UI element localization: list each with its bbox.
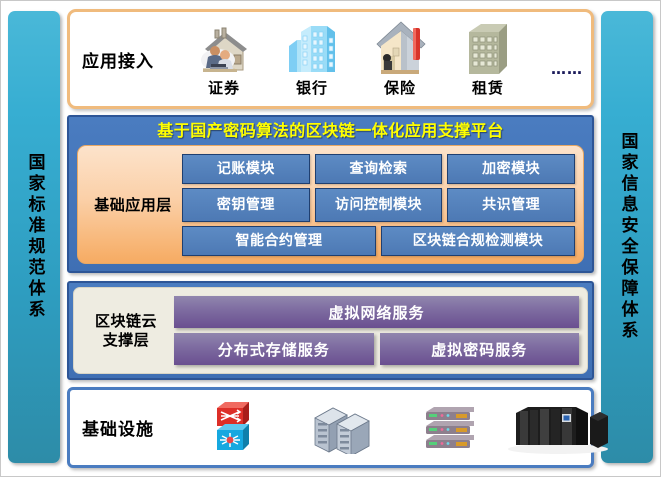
leasing-building-icon (461, 20, 515, 76)
sidebar-left-label: 国家标准规范体系 (26, 153, 43, 321)
sidebar-right-label: 国家信息安全保障体系 (619, 132, 636, 342)
module-blockchain-compliance-detection[interactable]: 区块链合规检测模块 (381, 226, 575, 256)
module-row: 记账模块 查询检索 加密模块 (182, 154, 575, 184)
sidebar-national-standards: 国家标准规范体系 (8, 11, 60, 463)
module-encryption[interactable]: 加密模块 (447, 154, 575, 184)
infrastructure-label: 基础设施 (82, 415, 180, 440)
application-access-items: 证券 (180, 20, 610, 98)
infra-item-rack-servers (396, 402, 504, 454)
app-item-insurance: 保险 (356, 20, 444, 98)
architecture-diagram: 国家标准规范体系 国家信息安全保障体系 应用接入 (0, 0, 661, 477)
cloud-support-layer-label: 区块链云 支撑层 (78, 312, 174, 350)
infrastructure-items (180, 400, 612, 456)
mainframe-icon (506, 401, 610, 455)
module-row: 密钥管理 访问控制模块 共识管理 (182, 188, 575, 222)
platform-title: 基于国产密码算法的区块链一体化应用支撑平台 (72, 120, 589, 143)
app-item-securities: 证券 (180, 20, 268, 98)
cloud-label-line-1: 区块链云 (78, 312, 174, 331)
house-securities-icon (191, 20, 257, 76)
app-access-ellipsis: …… (532, 60, 602, 98)
service-distributed-storage[interactable]: 分布式存储服务 (174, 333, 374, 365)
infra-item-mainframe (504, 401, 612, 455)
network-switch-icon (213, 400, 255, 456)
infra-item-server-rack (288, 402, 396, 454)
center-stack: 应用接入 (67, 9, 594, 466)
service-virtual-cryptography[interactable]: 虚拟密码服务 (380, 333, 580, 365)
service-row: 分布式存储服务 虚拟密码服务 (174, 333, 579, 365)
app-item-bank: 银行 (268, 20, 356, 98)
app-item-caption: 租赁 (472, 77, 504, 98)
infra-item-switch (180, 400, 288, 456)
service-row: 虚拟网络服务 (174, 296, 579, 328)
application-access-panel: 应用接入 (67, 9, 594, 109)
module-grid: 记账模块 查询检索 加密模块 密钥管理 访问控制模块 共识管理 智能合约管理 区… (182, 154, 575, 256)
application-access-label: 应用接入 (82, 47, 180, 72)
module-consensus-management[interactable]: 共识管理 (447, 188, 575, 222)
insurance-house-icon (367, 20, 433, 76)
basic-application-layer-label: 基础应用层 (84, 194, 182, 215)
basic-application-layer: 基础应用层 记账模块 查询检索 加密模块 密钥管理 访问控制模块 共识管理 智能… (77, 145, 584, 264)
app-item-leasing: 租赁 (444, 20, 532, 98)
cloud-label-line-2: 支撑层 (78, 331, 174, 350)
rack-servers-icon (422, 402, 478, 454)
module-accounting[interactable]: 记账模块 (182, 154, 310, 184)
cloud-support-inner: 区块链云 支撑层 虚拟网络服务 分布式存储服务 虚拟密码服务 (73, 287, 588, 374)
module-key-management[interactable]: 密钥管理 (182, 188, 310, 222)
server-rack-icon (311, 402, 373, 454)
app-item-caption: 保险 (384, 77, 416, 98)
platform-panel: 基于国产密码算法的区块链一体化应用支撑平台 基础应用层 记账模块 查询检索 加密… (67, 115, 594, 273)
module-access-control[interactable]: 访问控制模块 (315, 188, 443, 222)
bank-building-icon (281, 20, 343, 76)
app-item-caption: 银行 (296, 77, 328, 98)
module-row: 智能合约管理 区块链合规检测模块 (182, 226, 575, 256)
service-virtual-network[interactable]: 虚拟网络服务 (174, 296, 579, 328)
cloud-support-panel: 区块链云 支撑层 虚拟网络服务 分布式存储服务 虚拟密码服务 (67, 281, 594, 380)
infrastructure-panel: 基础设施 (67, 387, 594, 468)
module-query-search[interactable]: 查询检索 (315, 154, 443, 184)
app-item-caption: 证券 (208, 77, 240, 98)
service-grid: 虚拟网络服务 分布式存储服务 虚拟密码服务 (174, 296, 579, 365)
module-smart-contract-management[interactable]: 智能合约管理 (182, 226, 376, 256)
